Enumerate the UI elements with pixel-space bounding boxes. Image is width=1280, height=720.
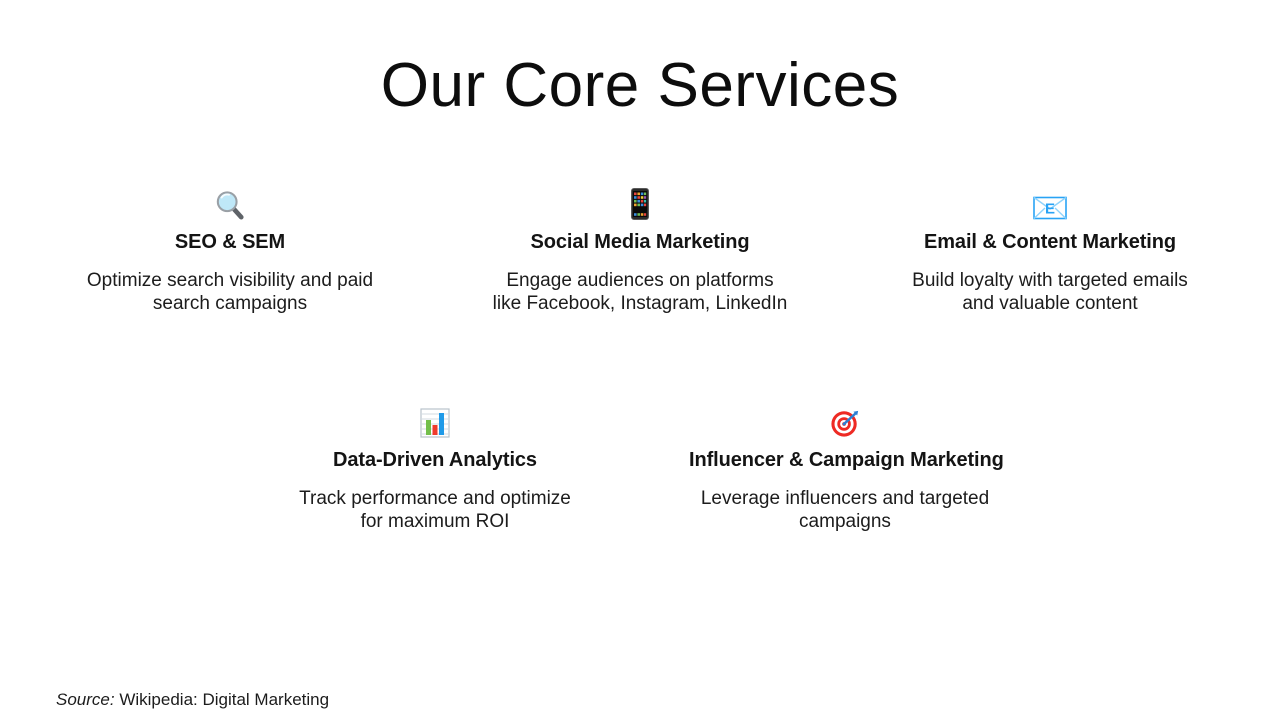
service-description: Engage audiences on platforms like Faceb… [484,269,796,315]
service-description: Track performance and optimize for maxim… [279,487,591,533]
service-description-line: Build loyalty with targeted emails [912,270,1188,291]
service-description-line: for maximum ROI [361,511,510,532]
service-description-line: search campaigns [153,293,307,314]
services-row-1: SEO & SEM Optimize search visibility and… [0,186,1280,315]
service-description: Build loyalty with targeted emails and v… [894,269,1206,315]
service-title: SEO & SEM [74,230,386,255]
slide-canvas: Our Core Services SEO & SEM Optimize sea… [0,0,1280,720]
target-dart-icon [689,404,1001,438]
source-text: Wikipedia: Digital Marketing [119,690,329,709]
mobile-phone-icon [484,186,796,220]
service-description: Optimize search visibility and paid sear… [74,269,386,315]
service-title: Social Media Marketing [484,230,796,255]
service-description-line: like Facebook, Instagram, LinkedIn [493,293,788,314]
email-envelope-icon: E [894,186,1206,220]
service-card-email-content[interactable]: E Email & Content Marketing Build loyalt… [880,186,1220,315]
services-row-2: Data-Driven Analytics Track performance … [0,404,1280,533]
service-card-data-analytics[interactable]: Data-Driven Analytics Track performance … [265,404,605,533]
service-title: Influencer & Campaign Marketing [689,448,1001,473]
service-title: Data-Driven Analytics [279,448,591,473]
service-card-seo-sem[interactable]: SEO & SEM Optimize search visibility and… [60,186,400,315]
service-description-line: Engage audiences on platforms [506,270,773,291]
service-description: Leverage influencers and targeted campai… [689,487,1001,533]
bar-chart-icon [279,404,591,438]
service-description-line: Leverage influencers and targeted [701,488,989,509]
source-label: Source: [56,690,115,709]
service-description-line: and valuable content [962,293,1137,314]
service-description-line: Optimize search visibility and paid [87,270,373,291]
service-description-line: Track performance and optimize [299,488,571,509]
service-card-social-media[interactable]: Social Media Marketing Engage audiences … [470,186,810,315]
service-card-influencer-campaign[interactable]: Influencer & Campaign Marketing Leverage… [675,404,1015,533]
service-title: Email & Content Marketing [894,230,1206,255]
svg-text:E: E [1045,201,1055,218]
magnifying-glass-icon [74,186,386,220]
service-description-line: campaigns [799,511,891,532]
source-note: Source: Wikipedia: Digital Marketing [56,690,329,710]
page-title: Our Core Services [0,50,1280,121]
